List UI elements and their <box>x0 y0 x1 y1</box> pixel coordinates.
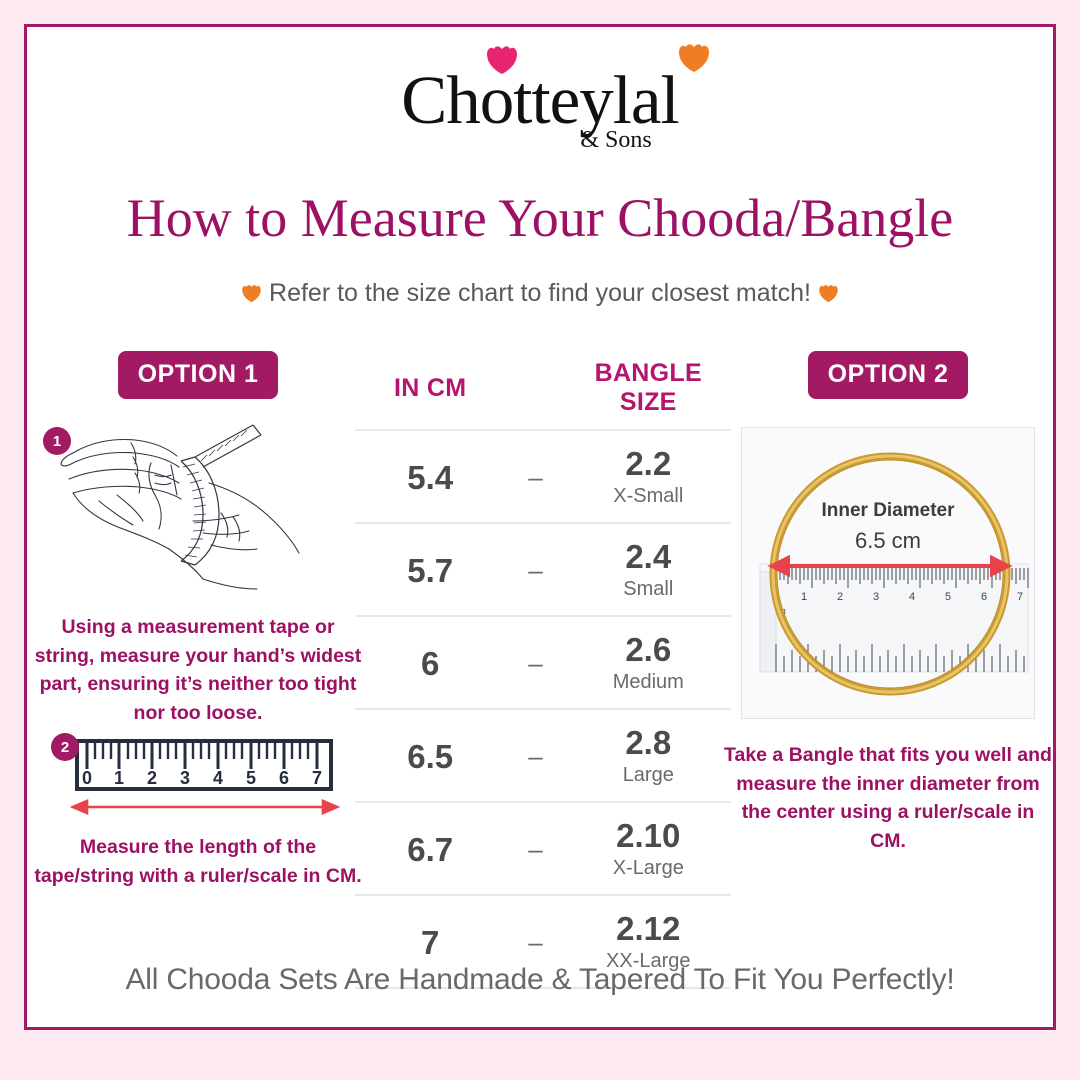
brand-name-text: Chotteylal <box>401 62 678 138</box>
table-header-row: IN CM BANGLE SIZE <box>355 359 731 430</box>
cell-dash: – <box>528 927 542 957</box>
svg-text:3: 3 <box>180 768 190 788</box>
brand-logo: Chotteylal & Sons <box>27 61 1053 191</box>
svg-text:2: 2 <box>147 768 157 788</box>
cell-cm: 5.7 <box>407 552 453 589</box>
tulip-icon-pink <box>485 45 519 75</box>
cell-cm: 6.5 <box>407 738 453 775</box>
brand-name: Chotteylal <box>401 61 678 139</box>
poster-frame: Chotteylal & Sons How to Measure Your Ch… <box>24 24 1056 1030</box>
option-2-caption: Take a Bangle that fits you well and mea… <box>723 741 1053 855</box>
option-1-badge-wrap: OPTION 1 <box>33 351 363 399</box>
tulip-icon-left <box>241 284 262 303</box>
option-1-step-2-caption: Measure the length of the tape/string wi… <box>33 833 363 890</box>
cell-dash: – <box>528 555 542 585</box>
cell-size-number: 2.2 <box>566 445 731 483</box>
step-2-badge: 2 <box>51 733 79 761</box>
option-1-badge: OPTION 1 <box>118 351 279 399</box>
table-row: 6.5 – 2.8 Large <box>355 709 731 802</box>
step-1-badge: 1 <box>43 427 71 455</box>
cell-size-number: 2.10 <box>566 817 731 855</box>
cell-dash: – <box>528 834 542 864</box>
inner-diameter-value: 6.5 cm <box>742 528 1034 554</box>
ruler-illustration: 2 <box>41 733 361 825</box>
page-subtitle: Refer to the size chart to find your clo… <box>27 277 1053 309</box>
svg-text:2: 2 <box>837 591 843 603</box>
svg-text:7: 7 <box>1017 591 1023 603</box>
hand-icon <box>43 417 363 597</box>
table-row: 6 – 2.6 Medium <box>355 616 731 709</box>
option-2-badge-wrap: OPTION 2 <box>723 351 1053 399</box>
cell-dash: – <box>528 462 542 492</box>
footer-note: All Chooda Sets Are Handmade & Tapered T… <box>27 961 1053 999</box>
tulip-icon-orange <box>677 43 711 73</box>
ruler-icon: 0123 4567 <box>41 733 361 825</box>
svg-text:1: 1 <box>801 591 807 603</box>
option-1-column: OPTION 1 1 <box>33 351 363 890</box>
cell-cm: 6.7 <box>407 831 453 868</box>
size-chart-table-wrap: IN CM BANGLE SIZE 5.4 – 2.2 X-Small 5.7 … <box>355 351 731 989</box>
svg-text:6: 6 <box>981 591 987 603</box>
option-1-step-1-caption: Using a measurement tape or string, meas… <box>33 613 363 727</box>
size-chart-table: IN CM BANGLE SIZE 5.4 – 2.2 X-Small 5.7 … <box>355 359 731 989</box>
bangle-photo-graphic: 123 456 7 m <box>742 428 1035 719</box>
svg-text:5: 5 <box>246 768 256 788</box>
table-row: 6.7 – 2.10 X-Large <box>355 802 731 895</box>
option-2-badge: OPTION 2 <box>808 351 969 399</box>
svg-text:7: 7 <box>312 768 322 788</box>
column-header-bangle-size: BANGLE SIZE <box>566 359 731 430</box>
hand-measure-illustration: 1 <box>43 417 363 597</box>
cell-size-label: Small <box>566 576 731 603</box>
cell-size-label: X-Small <box>566 483 731 510</box>
cell-size-number: 2.6 <box>566 631 731 669</box>
table-row: 5.7 – 2.4 Small <box>355 523 731 616</box>
page-subtitle-text: Refer to the size chart to find your clo… <box>269 279 811 307</box>
svg-text:0: 0 <box>82 768 92 788</box>
cell-size-label: Medium <box>566 669 731 696</box>
column-header-spacer <box>505 359 565 430</box>
cell-size-number: 2.8 <box>566 724 731 762</box>
svg-text:4: 4 <box>213 768 223 788</box>
svg-text:5: 5 <box>945 591 951 603</box>
cell-cm: 5.4 <box>407 459 453 496</box>
cell-size-label: X-Large <box>566 855 731 882</box>
svg-text:6: 6 <box>279 768 289 788</box>
page-title: How to Measure Your Chooda/Bangle <box>27 187 1053 249</box>
table-row: 5.4 – 2.2 X-Small <box>355 430 731 523</box>
tulip-icon-right <box>818 284 839 303</box>
option-2-column: OPTION 2 <box>723 351 1053 855</box>
svg-text:3: 3 <box>873 591 879 603</box>
cell-size-label: Large <box>566 762 731 789</box>
cell-dash: – <box>528 648 542 678</box>
column-header-in-cm: IN CM <box>355 359 505 430</box>
svg-text:4: 4 <box>909 591 915 603</box>
cell-size-number: 2.4 <box>566 538 731 576</box>
bangle-measure-photo: 123 456 7 m <box>741 427 1035 719</box>
cell-cm: 7 <box>421 924 439 961</box>
cell-cm: 6 <box>421 645 439 682</box>
cell-dash: – <box>528 741 542 771</box>
svg-text:1: 1 <box>114 768 124 788</box>
cell-size-number: 2.12 <box>566 910 731 948</box>
inner-diameter-label: Inner Diameter <box>742 500 1034 522</box>
